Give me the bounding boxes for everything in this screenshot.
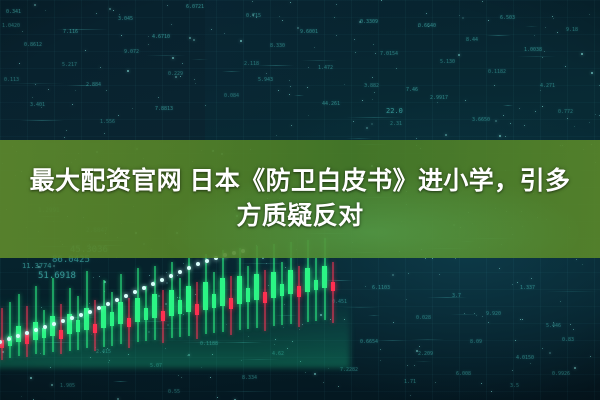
ticker-value: 0.028 <box>416 316 431 321</box>
ticker-value: 4.0150 <box>516 356 534 361</box>
data-speck <box>524 125 525 126</box>
data-speck <box>109 8 111 10</box>
data-speck <box>210 377 211 378</box>
data-speck <box>121 35 122 36</box>
data-streak <box>113 381 128 382</box>
data-speck <box>590 356 591 357</box>
ticker-value: 8.334 <box>242 376 257 381</box>
ticker-value: 0.83 <box>562 338 574 343</box>
data-speck <box>515 340 516 341</box>
data-speck <box>323 382 324 383</box>
trendline-point <box>61 319 65 323</box>
ticker-value: 0.341 <box>6 10 21 15</box>
news-thumbnail-image: 0.3411.04207.1160.86123.0459.0725.2170.1… <box>0 0 600 400</box>
data-speck <box>407 365 408 366</box>
data-speck <box>380 360 381 361</box>
data-speck <box>41 107 42 108</box>
data-speck <box>499 268 500 269</box>
ticker-value: 7.116 <box>63 30 78 35</box>
data-speck <box>557 32 558 33</box>
ticker-value: 22.0 <box>386 108 403 115</box>
ticker-value: 44.261 <box>322 102 340 107</box>
ticker-value: 3.045 <box>118 17 133 22</box>
data-speck <box>565 66 566 67</box>
data-speck <box>531 278 532 279</box>
ticker-value: 3.6650 <box>472 118 490 123</box>
trendline-point <box>160 278 164 282</box>
trendline-point <box>178 270 182 274</box>
data-speck <box>573 329 574 330</box>
data-speck <box>574 126 575 127</box>
data-speck <box>392 274 394 276</box>
data-speck <box>576 259 577 260</box>
data-streak <box>67 85 98 86</box>
data-streak <box>20 120 64 121</box>
trendline-point <box>70 316 74 320</box>
trendline-point <box>133 290 137 294</box>
ticker-value: 7.2282 <box>340 368 358 373</box>
ticker-value: 7.46 <box>406 88 418 93</box>
data-speck <box>282 20 283 21</box>
ticker-value: 9.6001 <box>300 30 318 35</box>
data-streak <box>346 117 402 118</box>
data-speck <box>252 1 253 2</box>
data-speck <box>435 382 436 383</box>
data-speck <box>289 94 290 95</box>
data-speck <box>365 286 366 287</box>
data-speck <box>19 63 20 64</box>
data-speck <box>158 97 159 98</box>
data-speck <box>544 51 545 52</box>
trendline-point <box>205 259 209 263</box>
ticker-value: 0.772 <box>558 110 573 115</box>
data-speck <box>465 100 466 101</box>
ticker-value: 1.905 <box>60 384 75 389</box>
data-speck <box>510 123 511 124</box>
data-streak <box>191 59 208 60</box>
ticker-value: 5.943 <box>258 78 273 83</box>
ticker-value: 9.18 <box>566 28 578 33</box>
data-streak <box>222 71 242 72</box>
trendline-point <box>196 262 200 266</box>
data-streak <box>503 105 514 106</box>
ticker-value: 6.503 <box>500 16 515 21</box>
data-speck <box>458 54 460 56</box>
ticker-value: 1.472 <box>318 66 333 71</box>
data-speck <box>256 17 257 18</box>
ticker-value: 3.882 <box>364 84 379 89</box>
data-speck <box>503 115 504 116</box>
trendline-point <box>187 266 191 270</box>
trendline-point <box>16 334 20 338</box>
ticker-value: 6.0721 <box>186 5 204 10</box>
ticker-value: 3.401 <box>30 103 45 108</box>
ticker-value: 4.271 <box>540 84 555 89</box>
data-speck <box>552 16 553 17</box>
data-speck <box>344 84 345 85</box>
ticker-value: 0.8612 <box>24 43 42 48</box>
data-speck <box>308 115 309 116</box>
ticker-value: 2.118 <box>244 62 259 67</box>
data-speck <box>289 80 290 81</box>
data-speck <box>542 106 543 107</box>
data-speck <box>582 264 583 265</box>
data-speck <box>354 39 355 40</box>
data-streak <box>517 56 556 57</box>
data-speck <box>459 15 460 16</box>
ticker-value: 7.0154 <box>380 52 398 57</box>
ticker-value: 5.130 <box>440 60 455 65</box>
ticker-value: 1.71 <box>404 380 416 385</box>
data-speck <box>217 397 218 398</box>
ticker-value: 1.556 <box>100 120 115 125</box>
data-speck <box>314 373 316 375</box>
data-speck <box>476 315 477 316</box>
data-speck <box>482 316 483 317</box>
data-speck <box>278 90 279 91</box>
ticker-value: 8.330 <box>270 44 285 49</box>
data-speck <box>117 398 119 400</box>
data-speck <box>308 67 309 68</box>
trendline-point <box>151 282 155 286</box>
trendline-point <box>88 310 92 314</box>
data-speck <box>172 57 174 59</box>
data-speck <box>148 36 149 37</box>
data-speck <box>336 35 337 36</box>
data-speck <box>211 29 212 30</box>
data-streak <box>8 83 64 84</box>
ticker-value: 0.9926 <box>552 372 570 377</box>
data-speck <box>48 89 49 90</box>
ticker-value: 2.209 <box>418 352 433 357</box>
data-streak <box>427 297 467 298</box>
data-streak <box>258 65 294 66</box>
trendline-point <box>97 306 101 310</box>
ticker-value: 1.0038 <box>524 48 542 53</box>
ticker-value: 0.084 <box>224 94 239 99</box>
trendline-point <box>25 331 29 335</box>
ticker-value: 8.44 <box>466 38 478 43</box>
ticker-value: 3.5 <box>510 384 519 389</box>
trendline-point <box>0 340 2 344</box>
ticker-value: 6.008 <box>456 372 471 377</box>
ticker-value: 5.217 <box>62 63 77 68</box>
data-speck <box>118 115 119 116</box>
data-speck <box>314 47 315 48</box>
data-streak <box>146 55 187 56</box>
data-speck <box>205 105 206 106</box>
ticker-value: 0.1182 <box>488 70 506 75</box>
data-speck <box>530 363 531 364</box>
data-streak <box>378 340 407 341</box>
ticker-value: 1.337 <box>520 286 535 291</box>
data-streak <box>224 391 269 392</box>
ticker-value: 1.0420 <box>2 24 20 29</box>
data-speck <box>307 87 308 88</box>
data-speck <box>505 136 506 137</box>
ticker-value: 0.55 <box>168 390 180 395</box>
data-speck <box>410 395 411 396</box>
data-streak <box>56 29 108 30</box>
data-speck <box>553 326 554 327</box>
trendline-point <box>142 286 146 290</box>
ticker-value: 2.31 <box>390 122 402 127</box>
data-speck <box>408 273 409 274</box>
data-speck <box>45 10 46 11</box>
ticker-value: 0.3309 <box>360 20 378 25</box>
data-speck <box>291 125 292 126</box>
data-speck <box>540 90 541 91</box>
trendline-point <box>7 337 11 341</box>
headline-band <box>0 140 600 258</box>
data-streak <box>546 291 598 292</box>
ticker-value: 8.09 <box>470 340 482 345</box>
data-streak <box>294 95 304 96</box>
data-streak <box>411 339 443 340</box>
trendline-point <box>124 294 128 298</box>
ticker-value: 2.9917 <box>430 96 448 101</box>
ticker-value: 5.446 <box>546 324 561 329</box>
trendline-point <box>79 313 83 317</box>
data-speck <box>418 26 419 27</box>
trendline-point <box>169 274 173 278</box>
ticker-value: 4.6710 <box>152 35 170 40</box>
data-speck <box>104 133 105 134</box>
data-speck <box>297 27 299 29</box>
data-speck <box>355 52 356 53</box>
trendline-point <box>106 302 110 306</box>
data-streak <box>450 314 480 315</box>
data-speck <box>66 130 67 131</box>
data-speck <box>240 40 242 42</box>
data-streak <box>415 361 432 362</box>
data-speck <box>75 90 76 91</box>
ticker-value: 6.1103 <box>372 286 390 291</box>
trendline-point <box>34 328 38 332</box>
data-speck <box>491 391 492 392</box>
data-streak <box>486 35 511 36</box>
data-streak <box>525 26 538 27</box>
ticker-value: 9.072 <box>124 50 139 55</box>
data-streak <box>368 315 381 316</box>
data-speck <box>488 20 489 21</box>
data-speck <box>359 21 361 23</box>
data-speck <box>534 35 535 36</box>
trendline-point <box>43 325 47 329</box>
ticker-value: 9.920 <box>486 312 501 317</box>
data-speck <box>549 352 551 354</box>
data-speck <box>542 348 543 349</box>
data-speck <box>189 37 191 39</box>
trendline-point <box>115 298 119 302</box>
ticker-value: 7.8813 <box>155 107 173 112</box>
data-streak <box>301 60 337 61</box>
data-speck <box>372 99 373 100</box>
trendline-point <box>52 322 56 326</box>
data-streak <box>346 138 372 139</box>
data-speck <box>560 301 561 302</box>
data-speck <box>85 50 86 51</box>
